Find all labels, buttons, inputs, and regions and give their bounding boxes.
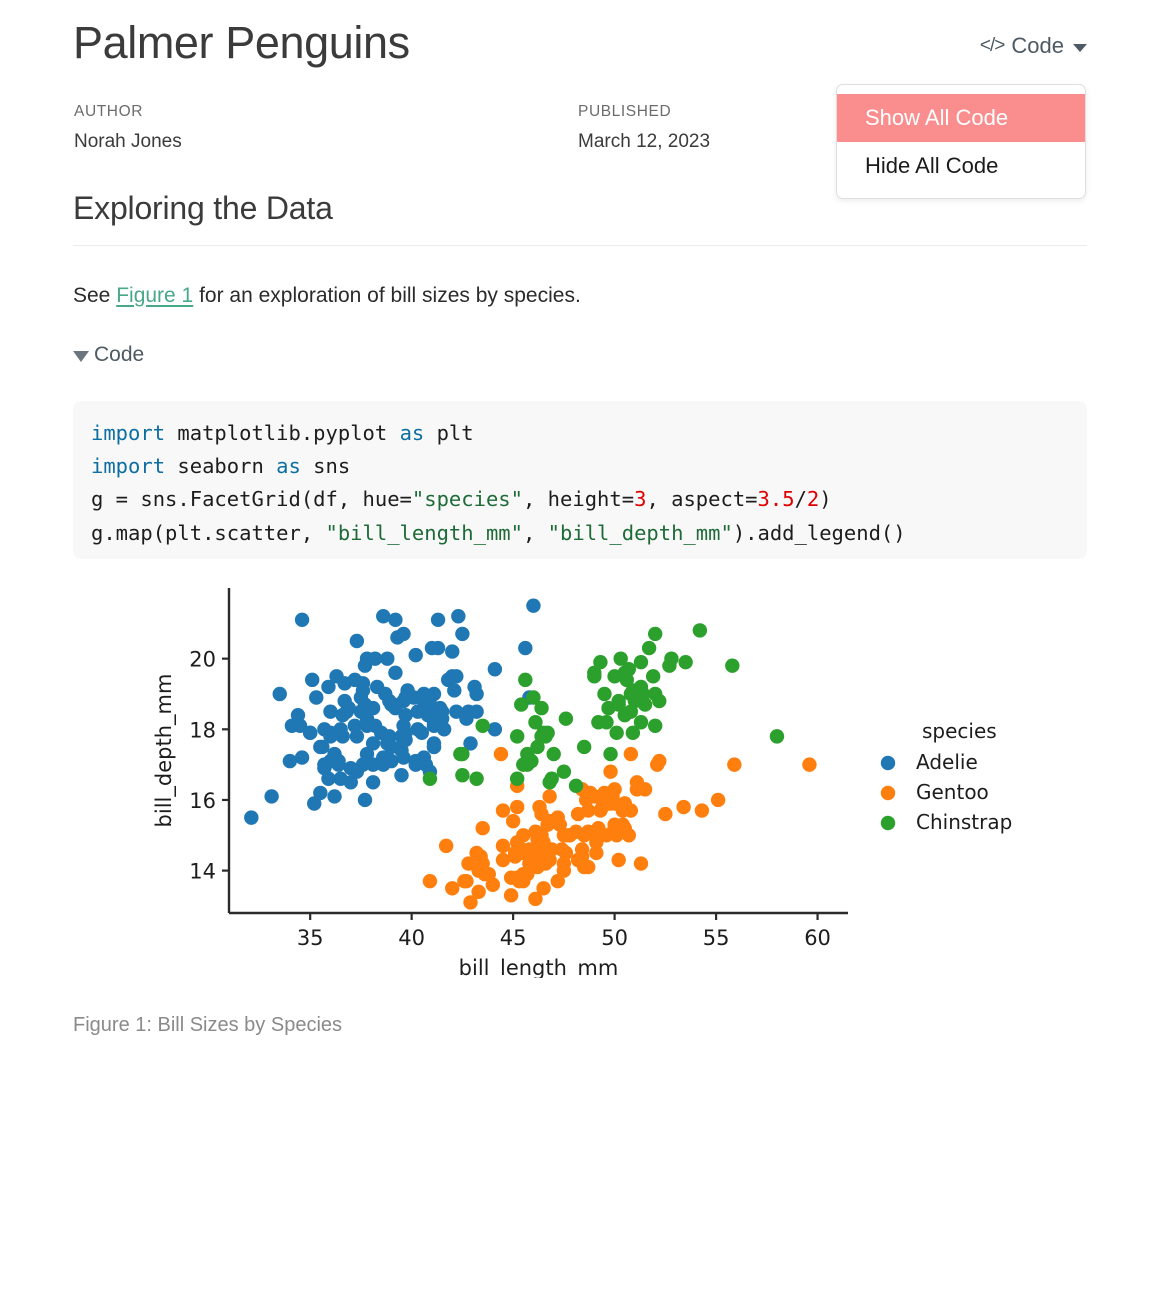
scatter-plot-chart: 14161820354045505560bill_length_mmbill_d… bbox=[73, 578, 1087, 978]
code-token: sns bbox=[301, 454, 350, 478]
figure-1-link[interactable]: Figure 1 bbox=[116, 284, 193, 307]
data-point bbox=[455, 627, 469, 641]
data-point bbox=[445, 644, 459, 658]
data-point bbox=[634, 655, 648, 669]
data-point bbox=[449, 669, 463, 683]
data-point bbox=[358, 659, 372, 673]
legend-label-gentoo[interactable]: Gentoo bbox=[916, 780, 989, 804]
data-point bbox=[467, 680, 481, 694]
x-axis-label: bill_length_mm bbox=[459, 956, 619, 978]
data-point bbox=[244, 810, 258, 824]
author-value: Norah Jones bbox=[74, 127, 182, 156]
data-point bbox=[569, 779, 583, 793]
data-point bbox=[348, 673, 362, 687]
data-point bbox=[439, 839, 453, 853]
code-fold-label: Code bbox=[94, 343, 144, 367]
code-dropdown-label: Code bbox=[1011, 33, 1064, 59]
data-point bbox=[770, 729, 784, 743]
data-point bbox=[589, 828, 603, 842]
data-point bbox=[559, 712, 573, 726]
code-token: g.map(plt.scatter, bbox=[91, 521, 326, 545]
series-adelie bbox=[244, 598, 541, 824]
data-point bbox=[542, 789, 556, 803]
published-value: March 12, 2023 bbox=[578, 127, 710, 156]
legend-title: species bbox=[922, 719, 997, 743]
data-point bbox=[528, 715, 542, 729]
data-point bbox=[388, 613, 402, 627]
code-token: as bbox=[276, 454, 301, 478]
data-point bbox=[542, 775, 556, 789]
data-point bbox=[335, 708, 349, 722]
code-block[interactable]: import matplotlib.pyplot as plt import s… bbox=[73, 401, 1087, 559]
code-token: , aspect= bbox=[646, 487, 757, 511]
data-point bbox=[676, 800, 690, 814]
x-tick-label: 50 bbox=[601, 926, 628, 950]
data-point bbox=[603, 765, 617, 779]
x-tick-label: 40 bbox=[398, 926, 425, 950]
code-fold-toggle[interactable]: Code bbox=[73, 343, 144, 367]
data-point bbox=[475, 821, 489, 835]
data-point bbox=[396, 750, 410, 764]
data-point bbox=[431, 613, 445, 627]
menu-item-show-all-code[interactable]: Show All Code bbox=[837, 94, 1085, 142]
angle-brackets-icon: </> bbox=[980, 35, 1004, 57]
code-dropdown-menu: Show All Code Hide All Code bbox=[836, 84, 1086, 199]
data-point bbox=[423, 874, 437, 888]
data-point bbox=[419, 757, 433, 771]
y-tick-label: 16 bbox=[189, 789, 216, 813]
data-point bbox=[551, 810, 565, 824]
chevron-down-icon bbox=[1073, 44, 1087, 52]
x-tick-label: 45 bbox=[500, 926, 527, 950]
data-point bbox=[303, 726, 317, 740]
data-point bbox=[624, 747, 638, 761]
data-point bbox=[329, 669, 343, 683]
x-tick-label: 35 bbox=[297, 926, 324, 950]
data-point bbox=[350, 765, 364, 779]
y-tick-label: 14 bbox=[189, 860, 216, 884]
data-point bbox=[264, 789, 278, 803]
data-point bbox=[648, 719, 662, 733]
data-point bbox=[597, 687, 611, 701]
data-point bbox=[551, 874, 565, 888]
data-point bbox=[496, 803, 510, 817]
data-point bbox=[445, 881, 459, 895]
code-token: g = sns.FacetGrid(df, hue= bbox=[91, 487, 412, 511]
code-dropdown-button[interactable]: </> Code bbox=[980, 33, 1087, 59]
code-token: , height= bbox=[523, 487, 634, 511]
data-point bbox=[506, 814, 520, 828]
data-point bbox=[510, 729, 524, 743]
code-token: / bbox=[795, 487, 807, 511]
data-point bbox=[494, 747, 508, 761]
code-token: "bill_length_mm" bbox=[326, 521, 523, 545]
data-point bbox=[648, 627, 662, 641]
data-point bbox=[447, 683, 461, 697]
x-tick-label: 60 bbox=[804, 926, 831, 950]
data-point bbox=[624, 687, 638, 701]
data-point bbox=[638, 782, 652, 796]
data-point bbox=[455, 768, 469, 782]
code-token: seaborn bbox=[165, 454, 276, 478]
data-point bbox=[634, 856, 648, 870]
data-point bbox=[388, 666, 402, 680]
data-point bbox=[309, 690, 323, 704]
data-point bbox=[652, 754, 666, 768]
data-point bbox=[536, 881, 550, 895]
triangle-down-icon bbox=[73, 351, 89, 362]
section-heading: Exploring the Data bbox=[73, 190, 333, 227]
code-token: ).add_legend() bbox=[733, 521, 906, 545]
data-point bbox=[557, 765, 571, 779]
legend-marker-adelie[interactable] bbox=[881, 756, 895, 770]
data-point bbox=[534, 807, 548, 821]
data-point bbox=[350, 729, 364, 743]
data-point bbox=[542, 853, 556, 867]
data-point bbox=[678, 655, 692, 669]
data-point bbox=[711, 793, 725, 807]
x-tick-label: 55 bbox=[703, 926, 730, 950]
data-point bbox=[488, 662, 502, 676]
data-point bbox=[283, 754, 297, 768]
data-point bbox=[518, 673, 532, 687]
data-point bbox=[350, 634, 364, 648]
code-token: 3.5 bbox=[758, 487, 795, 511]
data-point bbox=[622, 662, 636, 676]
data-point bbox=[496, 853, 510, 867]
code-token: "bill_depth_mm" bbox=[548, 521, 733, 545]
data-point bbox=[530, 860, 544, 874]
paragraph-text-after: for an exploration of bill sizes by spec… bbox=[193, 284, 581, 307]
data-point bbox=[802, 757, 816, 771]
data-point bbox=[409, 648, 423, 662]
data-point bbox=[547, 747, 561, 761]
data-point bbox=[664, 651, 678, 665]
data-point bbox=[727, 757, 741, 771]
series-gentoo bbox=[423, 747, 817, 910]
data-point bbox=[616, 803, 630, 817]
data-point bbox=[569, 825, 583, 839]
code-token: 3 bbox=[634, 487, 646, 511]
body-paragraph: See Figure 1 for an exploration of bill … bbox=[73, 280, 581, 312]
data-point bbox=[571, 807, 585, 821]
data-point bbox=[366, 775, 380, 789]
legend-label-adelie[interactable]: Adelie bbox=[916, 750, 978, 774]
data-point bbox=[323, 729, 337, 743]
data-point bbox=[605, 789, 619, 803]
data-point bbox=[354, 704, 368, 718]
data-point bbox=[475, 719, 489, 733]
data-point bbox=[603, 747, 617, 761]
data-point bbox=[626, 726, 640, 740]
data-point bbox=[488, 722, 502, 736]
code-token: as bbox=[400, 421, 425, 445]
data-point bbox=[646, 669, 660, 683]
data-point bbox=[575, 849, 589, 863]
figure-caption: Figure 1: Bill Sizes by Species bbox=[73, 1014, 342, 1037]
document-page: Palmer Penguins AUTHOR Norah Jones PUBLI… bbox=[0, 0, 1160, 1306]
data-point bbox=[295, 613, 309, 627]
data-point bbox=[611, 853, 625, 867]
data-point bbox=[624, 704, 638, 718]
data-point bbox=[725, 659, 739, 673]
data-point bbox=[295, 750, 309, 764]
data-point bbox=[451, 609, 465, 623]
data-point bbox=[388, 701, 402, 715]
data-point bbox=[425, 641, 439, 655]
data-point bbox=[417, 687, 431, 701]
data-point bbox=[384, 754, 398, 768]
data-point bbox=[396, 627, 410, 641]
data-point bbox=[611, 697, 625, 711]
author-meta-block: AUTHOR Norah Jones bbox=[74, 100, 182, 157]
data-point bbox=[394, 768, 408, 782]
published-label: PUBLISHED bbox=[578, 100, 710, 123]
published-meta-block: PUBLISHED March 12, 2023 bbox=[578, 100, 710, 157]
data-point bbox=[423, 772, 437, 786]
data-point bbox=[463, 895, 477, 909]
author-label: AUTHOR bbox=[74, 100, 182, 123]
code-token: , bbox=[523, 521, 548, 545]
data-point bbox=[695, 803, 709, 817]
page-title: Palmer Penguins bbox=[73, 18, 410, 68]
data-point bbox=[307, 796, 321, 810]
data-point bbox=[370, 680, 384, 694]
data-point bbox=[455, 747, 469, 761]
data-point bbox=[415, 726, 429, 740]
code-token: import bbox=[91, 454, 165, 478]
code-token: "species" bbox=[412, 487, 523, 511]
data-point bbox=[693, 623, 707, 637]
legend-marker-chinstrap[interactable] bbox=[881, 816, 895, 830]
data-point bbox=[599, 715, 613, 729]
code-token: import bbox=[91, 421, 165, 445]
data-point bbox=[323, 704, 337, 718]
data-point bbox=[471, 863, 485, 877]
data-point bbox=[518, 641, 532, 655]
data-point bbox=[321, 772, 335, 786]
data-point bbox=[609, 726, 623, 740]
data-point bbox=[510, 800, 524, 814]
data-point bbox=[520, 757, 534, 771]
data-point bbox=[534, 701, 548, 715]
code-token: plt bbox=[424, 421, 473, 445]
data-point bbox=[658, 807, 672, 821]
data-point bbox=[323, 754, 337, 768]
data-point bbox=[376, 609, 390, 623]
code-token: 2 bbox=[807, 487, 819, 511]
menu-item-hide-all-code[interactable]: Hide All Code bbox=[837, 142, 1085, 190]
data-point bbox=[577, 740, 591, 754]
data-point bbox=[589, 846, 603, 860]
data-point bbox=[360, 719, 374, 733]
y-tick-label: 18 bbox=[189, 718, 216, 742]
data-point bbox=[427, 740, 441, 754]
data-point bbox=[358, 793, 372, 807]
code-token: ) bbox=[819, 487, 831, 511]
data-point bbox=[473, 849, 487, 863]
data-point bbox=[534, 828, 548, 842]
legend-marker-gentoo[interactable] bbox=[881, 786, 895, 800]
data-point bbox=[435, 704, 449, 718]
code-token: matplotlib.pyplot bbox=[165, 421, 400, 445]
legend-label-chinstrap[interactable]: Chinstrap bbox=[916, 810, 1012, 834]
data-point bbox=[557, 828, 571, 842]
data-point bbox=[496, 839, 510, 853]
y-axis-label: bill_depth_mm bbox=[152, 674, 177, 828]
data-point bbox=[366, 736, 380, 750]
data-point bbox=[459, 712, 473, 726]
data-point bbox=[327, 789, 341, 803]
data-point bbox=[504, 888, 518, 902]
data-point bbox=[398, 726, 412, 740]
data-point bbox=[398, 690, 412, 704]
data-point bbox=[459, 874, 473, 888]
paragraph-text-before: See bbox=[73, 284, 116, 307]
data-point bbox=[618, 821, 632, 835]
y-tick-label: 20 bbox=[189, 648, 216, 672]
data-point bbox=[305, 673, 319, 687]
data-point bbox=[642, 641, 656, 655]
figure-1: 14161820354045505560bill_length_mmbill_d… bbox=[73, 578, 1087, 978]
data-point bbox=[583, 786, 597, 800]
data-point bbox=[510, 835, 524, 849]
data-point bbox=[273, 687, 287, 701]
data-point bbox=[652, 694, 666, 708]
data-point bbox=[593, 655, 607, 669]
data-point bbox=[469, 772, 483, 786]
data-point bbox=[411, 704, 425, 718]
data-point bbox=[504, 870, 518, 884]
data-point bbox=[510, 772, 524, 786]
data-point bbox=[514, 697, 528, 711]
data-point bbox=[526, 598, 540, 612]
section-divider bbox=[73, 245, 1087, 246]
